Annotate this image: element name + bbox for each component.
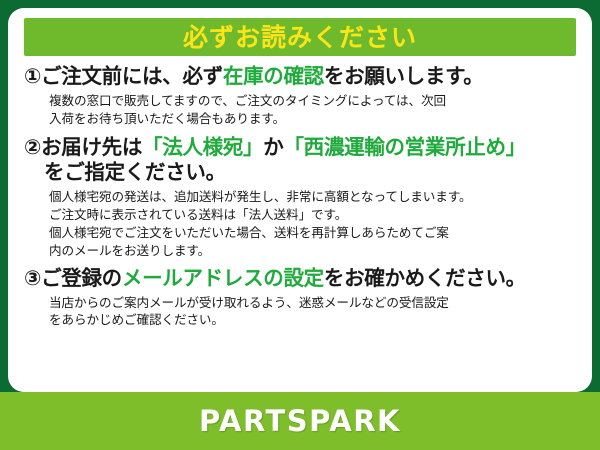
notice-item-2-heading-line2: をご指定ください。: [24, 160, 576, 186]
notice-item-2-body-line-1: 個人様宅宛の発送は、追加送料が発生し、非常に高額となってしまいます。: [49, 188, 576, 206]
notice-item-2-body-line-4: 内のメールをお送りします。: [49, 242, 576, 260]
notice-item-2-heading: ②お届け先は「法人様宛」か「西濃運輸の営業所止め」: [24, 135, 576, 161]
notice-item-3-body-line-2: をあらかじめご確認ください。: [49, 311, 576, 329]
notice-item-3-body-line-1: 当店からのご案内メールが受け取れるよう、迷惑メールなどの受信設定: [49, 294, 576, 312]
notice-item-2-highlight-2: 「西濃運輸の営業所止め」: [283, 135, 525, 159]
notice-item-2-heading-pre: お届け先は: [41, 135, 142, 159]
notice-item-1: ①ご注文前には、必ず在庫の確認をお願いします。 複数の窓口で販売してますので、ご…: [24, 64, 576, 128]
notice-item-1-heading: ①ご注文前には、必ず在庫の確認をお願いします。: [24, 64, 576, 90]
notice-item-1-body: 複数の窓口で販売してますので、ご注文のタイミングによっては、次回 入荷をお待ち頂…: [24, 90, 576, 128]
notice-item-3-heading-pre: ご登録の: [41, 266, 122, 290]
notice-item-2-body-line-2: ご注文時に表示されている送料は「法人送料」です。: [49, 206, 576, 224]
brand-logo-text: PARTSPARK: [199, 404, 401, 438]
notice-card: 必ずお読みください ①ご注文前には、必ず在庫の確認をお願いします。 複数の窓口で…: [0, 0, 600, 450]
notice-item-1-body-line-1: 複数の窓口で販売してますので、ご注文のタイミングによっては、次回: [49, 92, 576, 110]
notice-item-2-body-line-3: 個人様宅宛でご注文をいただいた場合、送料を再計算しあらためてご案: [49, 224, 576, 242]
notice-item-2-heading-mid: か: [263, 135, 283, 159]
notice-item-1-highlight: 在庫の確認: [223, 64, 324, 88]
notice-item-3-body: 当店からのご案内メールが受け取れるよう、迷惑メールなどの受信設定 をあらかじめご…: [24, 292, 576, 330]
notice-item-3-heading: ③ご登録のメールアドレスの設定をお確かめください。: [24, 266, 576, 292]
notice-item-3-marker: ③: [24, 266, 41, 290]
notice-item-2-body: 個人様宅宛の発送は、追加送料が発生し、非常に高額となってしまいます。 ご注文時に…: [24, 186, 576, 260]
notice-item-2-highlight-1: 「法人様宛」: [142, 135, 263, 159]
notice-item-3: ③ご登録のメールアドレスの設定をお確かめください。 当店からのご案内メールが受け…: [24, 266, 576, 330]
footer-brand: PARTSPARK: [0, 392, 600, 450]
notice-item-2-marker: ②: [24, 135, 41, 159]
notice-sheet: 必ずお読みください ①ご注文前には、必ず在庫の確認をお願いします。 複数の窓口で…: [8, 8, 592, 392]
notice-item-1-body-line-2: 入荷をお待ち頂いただく場合もあります。: [49, 110, 576, 128]
notice-item-3-heading-post: をお確かめください。: [324, 266, 526, 290]
notice-item-1-heading-pre: ご注文前には、必ず: [41, 64, 223, 88]
notice-item-1-heading-post: をお願いします。: [324, 64, 484, 88]
notice-item-2: ②お届け先は「法人様宛」か「西濃運輸の営業所止め」 をご指定ください。 個人様宅…: [24, 135, 576, 260]
page-title: 必ずお読みください: [183, 25, 417, 50]
notice-item-3-highlight: メールアドレスの設定: [122, 266, 324, 290]
notice-item-1-marker: ①: [24, 64, 41, 88]
header-banner: 必ずお読みください: [24, 18, 576, 56]
